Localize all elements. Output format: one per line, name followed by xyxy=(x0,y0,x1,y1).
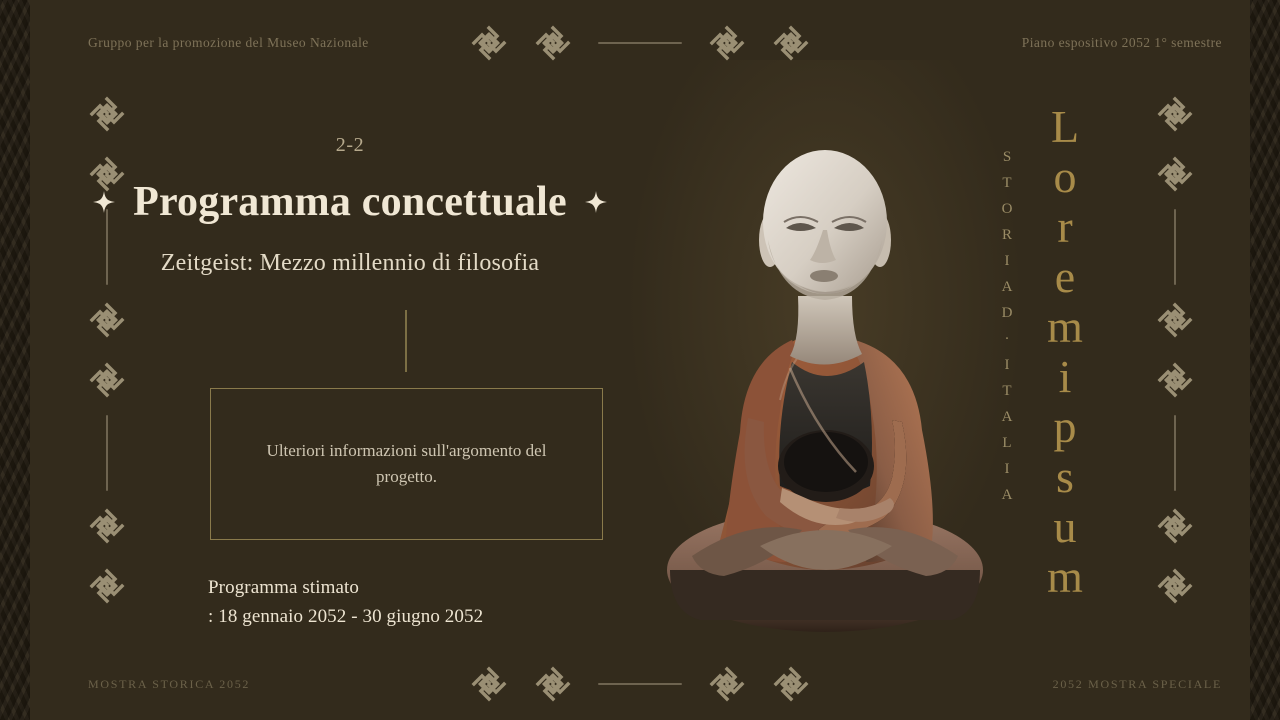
vertical-letter: s xyxy=(1056,454,1074,500)
vertical-letter: L xyxy=(1051,104,1079,150)
endless-knot-icon xyxy=(1156,361,1194,399)
vertical-letter: o xyxy=(1054,154,1077,200)
footer-bar: MOSTRA STORICA 2052 2052 MOSTRA SPECIALE xyxy=(30,654,1250,714)
vertical-letter: m xyxy=(1047,554,1083,600)
schedule-label: Programma stimato xyxy=(208,573,688,602)
title-row: Programma concettuale xyxy=(0,178,700,226)
center-divider-rule xyxy=(405,310,407,372)
endless-knot-icon xyxy=(1156,301,1194,339)
footer-right-label: 2052 MOSTRA SPECIALE xyxy=(920,677,1250,692)
endless-knot-icon xyxy=(772,665,810,703)
vertical-brand-text: Loremipsum xyxy=(1036,104,1094,604)
page-title: Programma concettuale xyxy=(133,178,567,226)
endless-knot-icon xyxy=(1156,567,1194,605)
endless-knot-icon xyxy=(708,24,746,62)
vertical-letter: r xyxy=(1057,204,1072,250)
vertical-letter: m xyxy=(1047,304,1083,350)
description-text: Ulteriori informazioni sull'argomento de… xyxy=(242,438,572,491)
right-edge-texture xyxy=(1250,0,1280,720)
vertical-letter: i xyxy=(1059,354,1072,400)
endless-knot-icon xyxy=(470,665,508,703)
vertical-letter: u xyxy=(1054,504,1077,550)
endless-knot-icon xyxy=(1156,507,1194,545)
page-subtitle: Zeitgeist: Mezzo millennio di filosofia xyxy=(0,250,700,277)
vertical-letter: e xyxy=(1055,254,1075,300)
endless-knot-icon xyxy=(1156,95,1194,133)
four-point-sparkle-icon xyxy=(585,191,607,213)
endless-knot-icon xyxy=(708,665,746,703)
endless-knot-icon xyxy=(1156,155,1194,193)
description-box: Ulteriori informazioni sull'argomento de… xyxy=(210,388,603,540)
column-divider-rule xyxy=(1174,415,1176,491)
endless-knot-icon xyxy=(534,665,572,703)
footer-ornament-row xyxy=(360,665,920,703)
monk-statue-image xyxy=(640,100,1010,640)
column-divider-rule xyxy=(1174,209,1176,285)
schedule-block: Programma stimato : 18 gennaio 2052 - 30… xyxy=(208,573,688,632)
header-right-label: Piano espositivo 2052 1° semestre xyxy=(920,35,1250,51)
footer-left-label: MOSTRA STORICA 2052 xyxy=(30,677,360,692)
endless-knot-icon xyxy=(772,24,810,62)
footer-divider-rule xyxy=(598,683,682,685)
slide-content: 2-2 Programma concettuale Zeitgeist: Mez… xyxy=(0,0,700,720)
page-indicator: 2-2 xyxy=(0,134,700,157)
four-point-sparkle-icon xyxy=(93,191,115,213)
schedule-value: : 18 gennaio 2052 - 30 giugno 2052 xyxy=(208,602,688,631)
right-knot-column xyxy=(1146,95,1204,605)
vertical-letter: p xyxy=(1054,404,1077,450)
